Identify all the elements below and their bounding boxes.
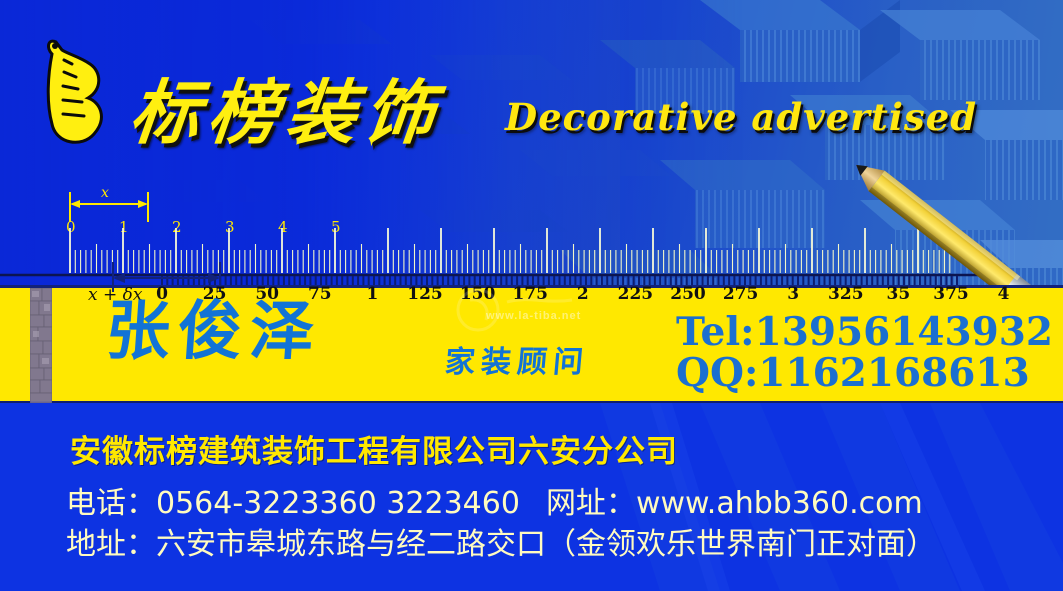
contact-block: Tel:13956143932 QQ:1162168613 (676, 312, 1053, 393)
ruler-number: 4 (998, 284, 1010, 304)
ruler-number: 175 (512, 284, 548, 304)
qq-number: QQ:1162168613 (676, 353, 1053, 394)
phone-number: Tel:13956143932 (676, 312, 1053, 353)
stylized-b-logo-icon (38, 32, 118, 148)
ruler-number: 125 (407, 284, 443, 304)
business-card: 标榜装饰 Decorative advertised x 01 23 45 (0, 0, 1063, 591)
ruler-number: 225 (618, 284, 654, 304)
logo-chinese-text: 标榜装饰 (126, 78, 445, 148)
footer-address-line: 地址：六安市皋城东路与经二路交口（金领欢乐世界南门正对面） (66, 519, 936, 563)
logo: 标榜装饰 (38, 30, 508, 150)
ruler-number: 3 (787, 284, 799, 304)
ruler-number: 250 (670, 284, 706, 304)
ruler-number: 375 (933, 284, 969, 304)
ruler-number: 2 (577, 284, 589, 304)
ruler-number: 35 (887, 284, 911, 304)
watermark-url: www.la-tiba.net (486, 310, 581, 322)
address-label: 地址： (66, 527, 156, 562)
ruler-number: 1 (366, 284, 378, 304)
web-label: 网址： (546, 486, 636, 521)
person-name: 张俊泽 (104, 300, 324, 364)
phone-label: 电话： (66, 486, 156, 521)
logo-english-text: Decorative advertised (505, 95, 977, 139)
ruler-number: 325 (828, 284, 864, 304)
ruler-number: 275 (723, 284, 759, 304)
ruler-number: 150 (460, 284, 496, 304)
phone-values: 0564-3223360 3223460 (156, 486, 520, 521)
footer-phone-line: 电话：0564-3223360 3223460网址：www.ahbb360.co… (66, 478, 923, 522)
company-name: 安徽标榜建筑装饰工程有限公司六安分公司 (70, 426, 678, 471)
address-value: 六安市皋城东路与经二路交口（金领欢乐世界南门正对面） (156, 527, 936, 562)
person-title: 家装顾问 (444, 348, 591, 378)
web-value[interactable]: www.ahbb360.com (636, 486, 923, 521)
